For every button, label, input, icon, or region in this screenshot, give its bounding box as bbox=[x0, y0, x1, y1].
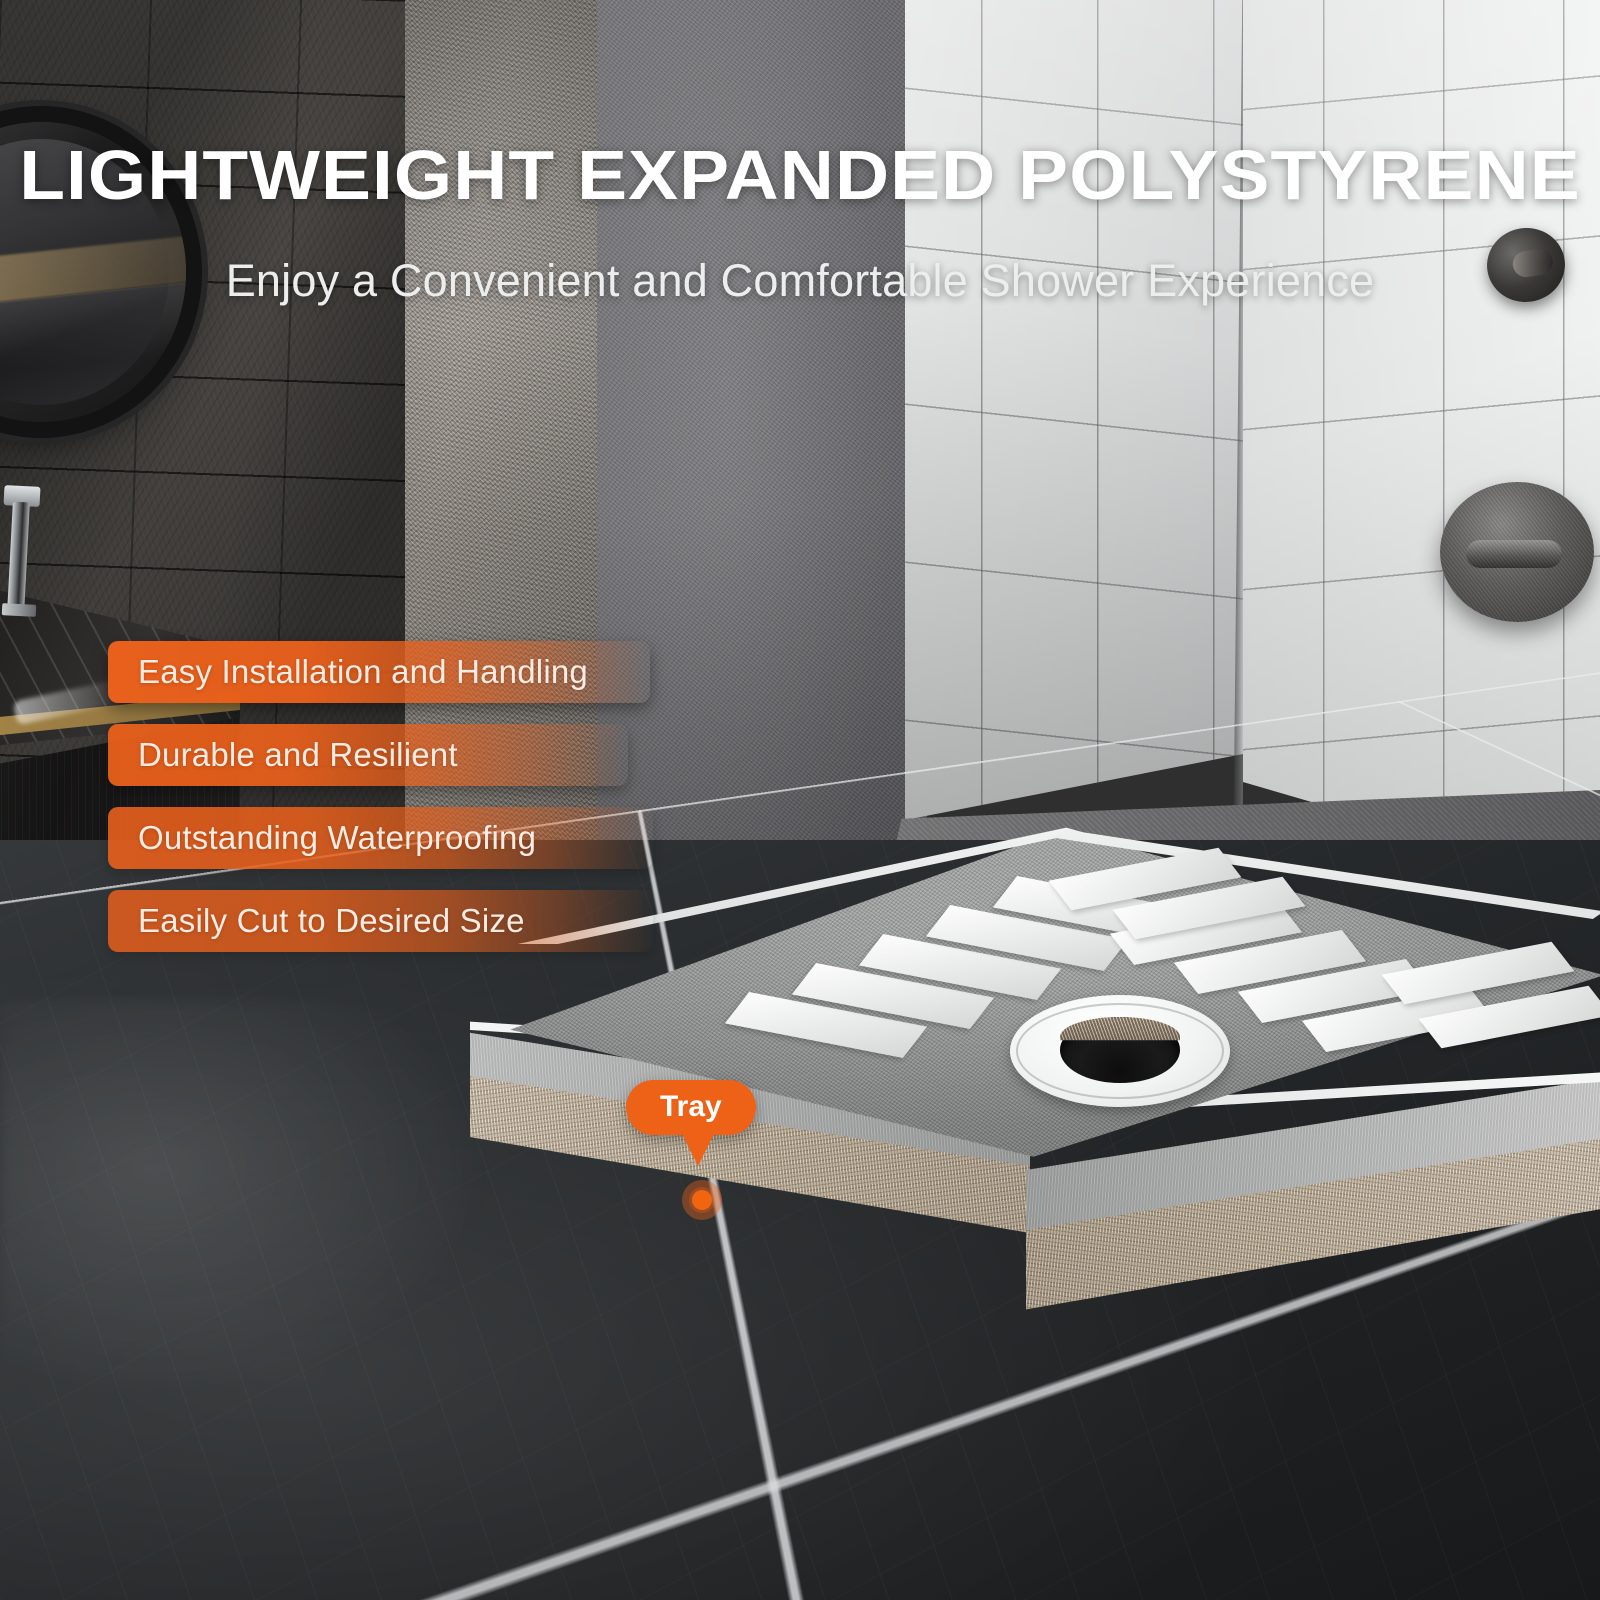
page-subtitle: Enjoy a Convenient and Comfortable Showe… bbox=[0, 255, 1600, 307]
feature-label: Easy Installation and Handling bbox=[138, 653, 588, 691]
product-banner: LIGHTWEIGHT EXPANDED POLYSTYRENE Enjoy a… bbox=[0, 0, 1600, 1600]
tiled-shower-wall-left bbox=[905, 0, 1245, 820]
floor-sheen bbox=[0, 1000, 520, 1420]
callout-bubble: Tray bbox=[626, 1080, 756, 1135]
shower-arm-mount-icon bbox=[1440, 482, 1594, 622]
tile-wall-shading bbox=[905, 0, 1245, 820]
page-title: LIGHTWEIGHT EXPANDED POLYSTYRENE bbox=[0, 140, 1600, 210]
drain-collar bbox=[1010, 995, 1230, 1107]
feature-chip-easy-installation: Easy Installation and Handling bbox=[108, 641, 868, 703]
callout-tail bbox=[682, 1134, 714, 1166]
tile-wall-shading bbox=[1243, 0, 1600, 890]
feature-chip-durable: Durable and Resilient bbox=[108, 724, 868, 786]
tray-callout: Tray bbox=[626, 1080, 756, 1135]
feature-label: Durable and Resilient bbox=[138, 736, 458, 774]
shower-arm-stem bbox=[1466, 540, 1562, 568]
callout-dot-marker bbox=[692, 1190, 712, 1210]
tiled-shower-wall-right bbox=[1243, 0, 1600, 890]
feature-label: Easily Cut to Desired Size bbox=[138, 902, 525, 940]
faucet-base bbox=[2, 603, 37, 617]
feature-list: Easy Installation and Handling Durable a… bbox=[108, 641, 868, 973]
feature-label: Outstanding Waterproofing bbox=[138, 819, 536, 857]
feature-chip-waterproofing: Outstanding Waterproofing bbox=[108, 807, 868, 869]
feature-chip-cut-to-size: Easily Cut to Desired Size bbox=[108, 890, 868, 952]
